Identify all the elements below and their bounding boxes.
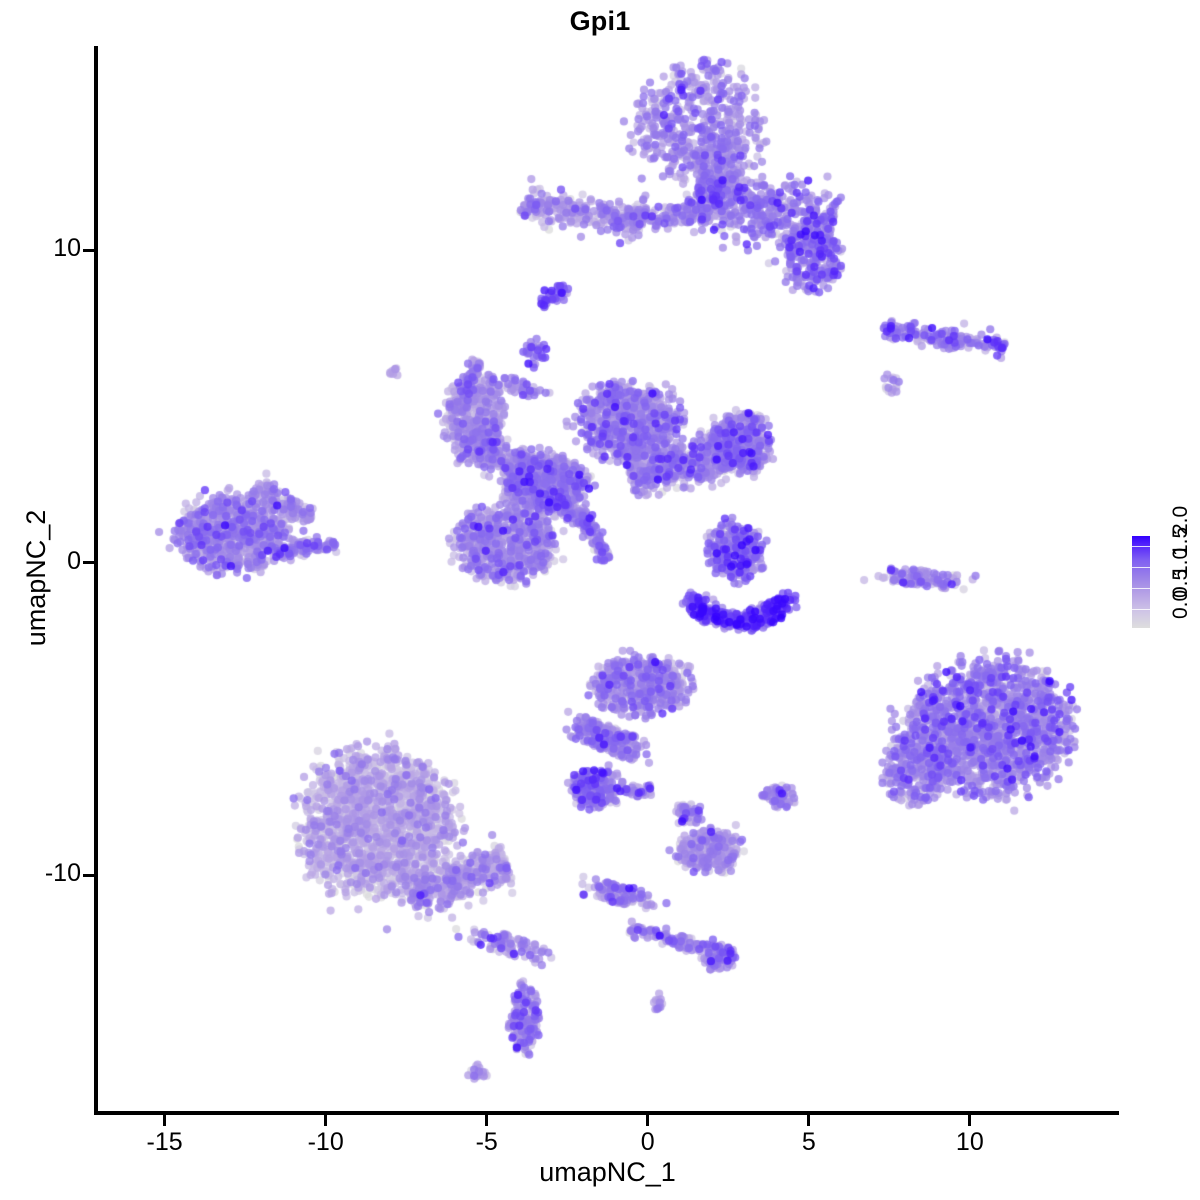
x-axis-tick — [646, 1115, 649, 1126]
colorbar-tick — [1132, 567, 1150, 568]
x-axis-tick — [807, 1115, 810, 1126]
colorbar-gradient — [1132, 536, 1150, 628]
x-axis-tick — [163, 1115, 166, 1126]
x-axis-tick — [968, 1115, 971, 1126]
feature-plot-figure: Gpi1 -15-10-50510 100-10 umapNC_1 umapNC… — [0, 0, 1200, 1200]
x-axis-line — [94, 1111, 1119, 1115]
y-axis-title: umapNC_2 — [21, 510, 51, 647]
colorbar-tick — [1132, 546, 1150, 547]
colorbar — [1132, 536, 1150, 628]
x-axis-tick-label: -10 — [281, 1128, 371, 1157]
y-axis-tick-label: 10 — [0, 234, 81, 263]
y-axis-tick — [83, 874, 94, 877]
x-axis-tick-label: 10 — [925, 1128, 1015, 1157]
y-axis-line — [94, 46, 98, 1115]
x-axis-tick-label: 5 — [764, 1128, 854, 1157]
y-axis-tick — [83, 561, 94, 564]
colorbar-tick — [1132, 630, 1150, 631]
y-axis-title-wrap: umapNC_2 — [21, 278, 55, 878]
colorbar-tick — [1132, 609, 1150, 610]
colorbar-tick-label: 0.0 — [1152, 619, 1198, 637]
x-axis-tick — [324, 1115, 327, 1126]
plot-panel — [97, 47, 1118, 1113]
y-axis-tick — [83, 249, 94, 252]
x-axis-tick — [485, 1115, 488, 1126]
x-axis-tick-label: -15 — [120, 1128, 210, 1157]
x-axis-title: umapNC_1 — [97, 1157, 1118, 1188]
colorbar-legend: 2.01.51.00.50.0 — [1131, 534, 1200, 630]
x-axis-tick-label: 0 — [603, 1128, 693, 1157]
x-axis-tick-label: -5 — [442, 1128, 532, 1157]
colorbar-tick — [1132, 588, 1150, 589]
page-title: Gpi1 — [0, 6, 1200, 37]
scatter-canvas — [97, 47, 1118, 1113]
